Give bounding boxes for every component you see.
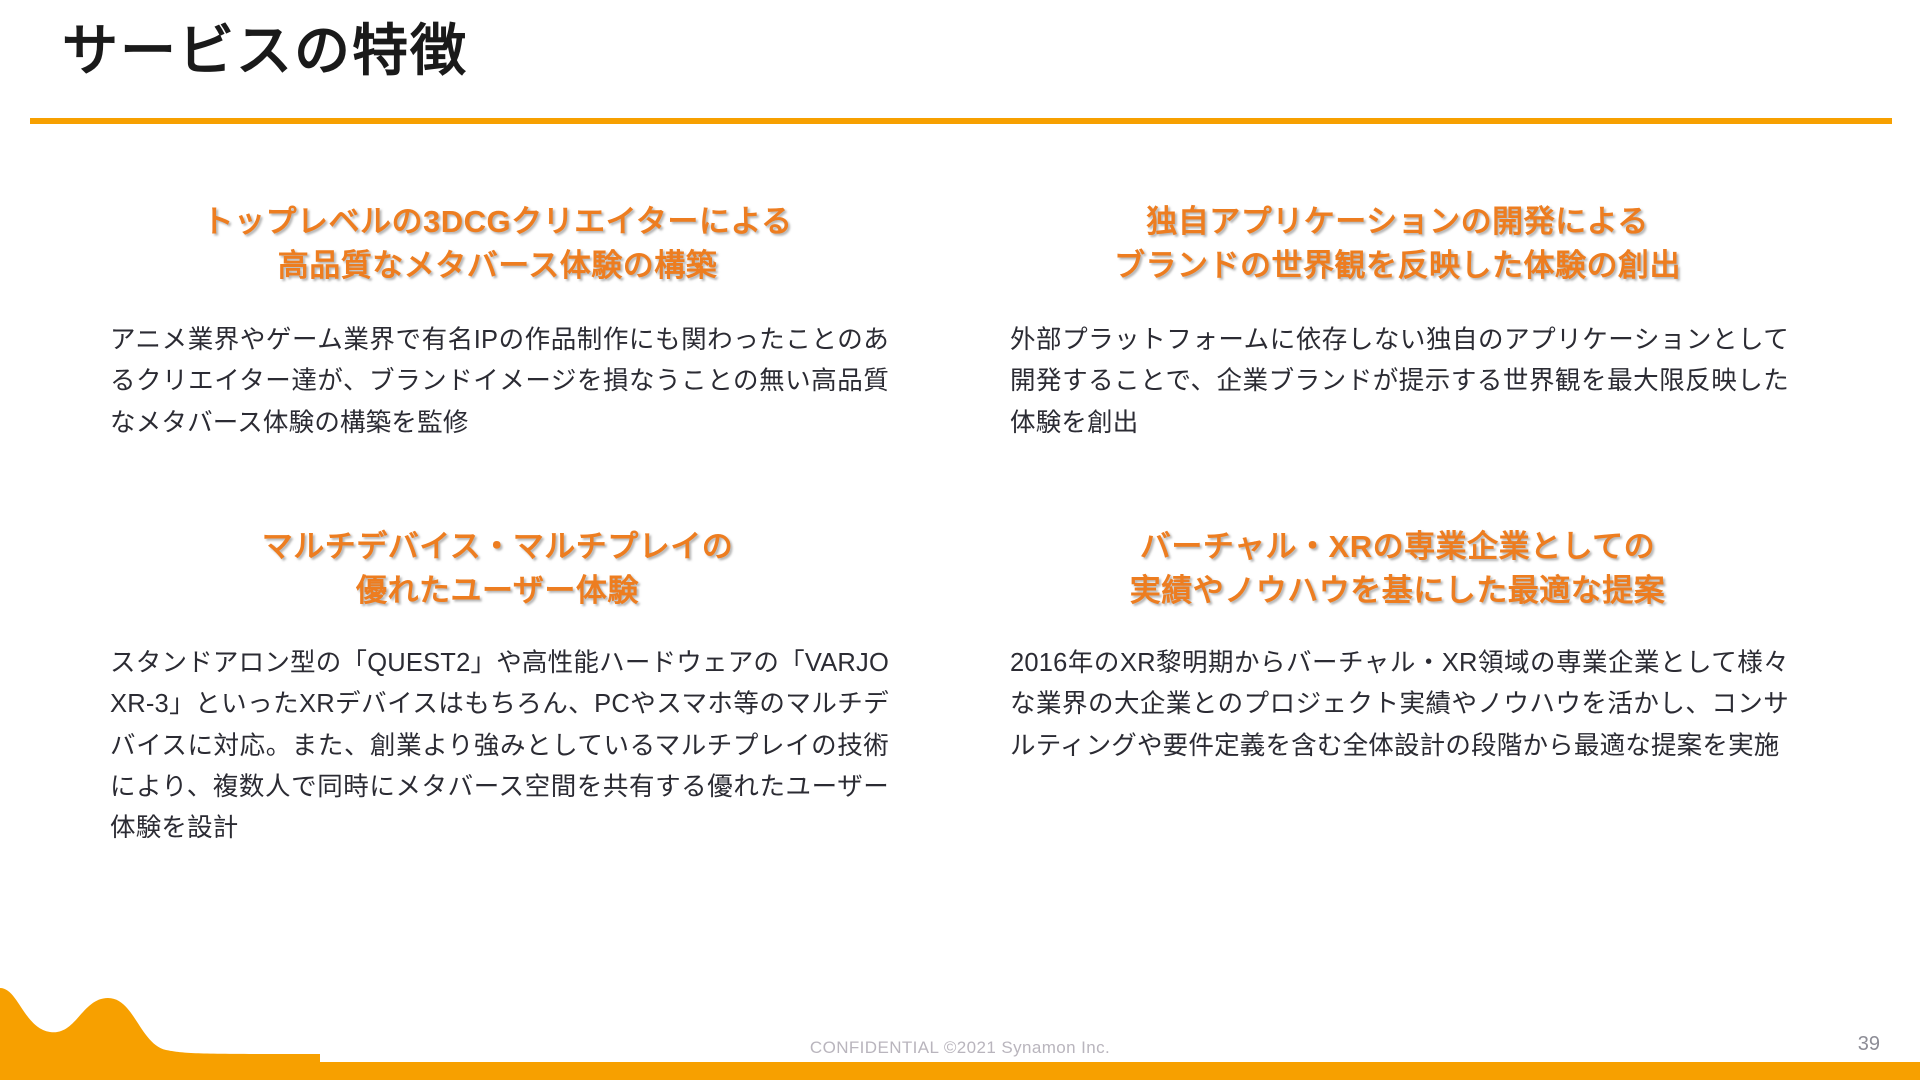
feature-card-1: トップレベルの3DCGクリエイターによる 高品質なメタバース体験の構築 アニメ業… <box>100 150 895 505</box>
title-underline-rule <box>30 118 1892 124</box>
page-number: 39 <box>1858 1033 1880 1056</box>
title-area: サービスの特徴 <box>0 0 1920 128</box>
footer-accent-bar <box>0 1062 1920 1080</box>
feature-card-2-heading: 独自アプリケーションの開発による ブランドの世界観を反映した体験の創出 <box>1000 150 1795 288</box>
feature-card-3: マルチデバイス・マルチプレイの 優れたユーザー体験 スタンドアロン型の「QUES… <box>100 505 895 860</box>
feature-card-1-body: アニメ業界やゲーム業界で有名IPの作品制作にも関わったことのあるクリエイター達が… <box>100 320 895 444</box>
heading-line-2: 優れたユーザー体験 <box>120 569 875 613</box>
page-title: サービスの特徴 <box>62 16 468 86</box>
feature-card-2: 独自アプリケーションの開発による ブランドの世界観を反映した体験の創出 外部プラ… <box>1000 150 1795 505</box>
feature-card-4-body: 2016年のXR黎明期からバーチャル・XR領域の専業企業として様々な業界の大企業… <box>1000 643 1795 767</box>
heading-line-1: マルチデバイス・マルチプレイの <box>120 525 875 569</box>
feature-card-2-body: 外部プラットフォームに依存しない独自のアプリケーションとして開発することで、企業… <box>1000 320 1795 444</box>
heading-line-2: ブランドの世界観を反映した体験の創出 <box>1020 244 1775 288</box>
feature-grid: トップレベルの3DCGクリエイターによる 高品質なメタバース体験の構築 アニメ業… <box>0 150 1920 1000</box>
feature-card-3-heading: マルチデバイス・マルチプレイの 優れたユーザー体験 <box>100 505 895 613</box>
slide: サービスの特徴 トップレベルの3DCGクリエイターによる 高品質なメタバース体験… <box>0 0 1920 1080</box>
heading-line-1: トップレベルの3DCGクリエイターによる <box>120 200 875 244</box>
heading-line-2: 実績やノウハウを基にした最適な提案 <box>1020 569 1775 613</box>
feature-card-4-heading: バーチャル・XRの専業企業としての 実績やノウハウを基にした最適な提案 <box>1000 505 1795 613</box>
feature-card-4: バーチャル・XRの専業企業としての 実績やノウハウを基にした最適な提案 2016… <box>1000 505 1795 860</box>
confidential-notice: CONFIDENTIAL ©2021 Synamon Inc. <box>0 1038 1920 1058</box>
feature-card-1-heading: トップレベルの3DCGクリエイターによる 高品質なメタバース体験の構築 <box>100 150 895 288</box>
feature-card-3-body: スタンドアロン型の「QUEST2」や高性能ハードウェアの「VARJO XR-3」… <box>100 643 895 849</box>
heading-line-1: 独自アプリケーションの開発による <box>1020 200 1775 244</box>
heading-line-1: バーチャル・XRの専業企業としての <box>1020 525 1775 569</box>
heading-line-2: 高品質なメタバース体験の構築 <box>120 244 875 288</box>
